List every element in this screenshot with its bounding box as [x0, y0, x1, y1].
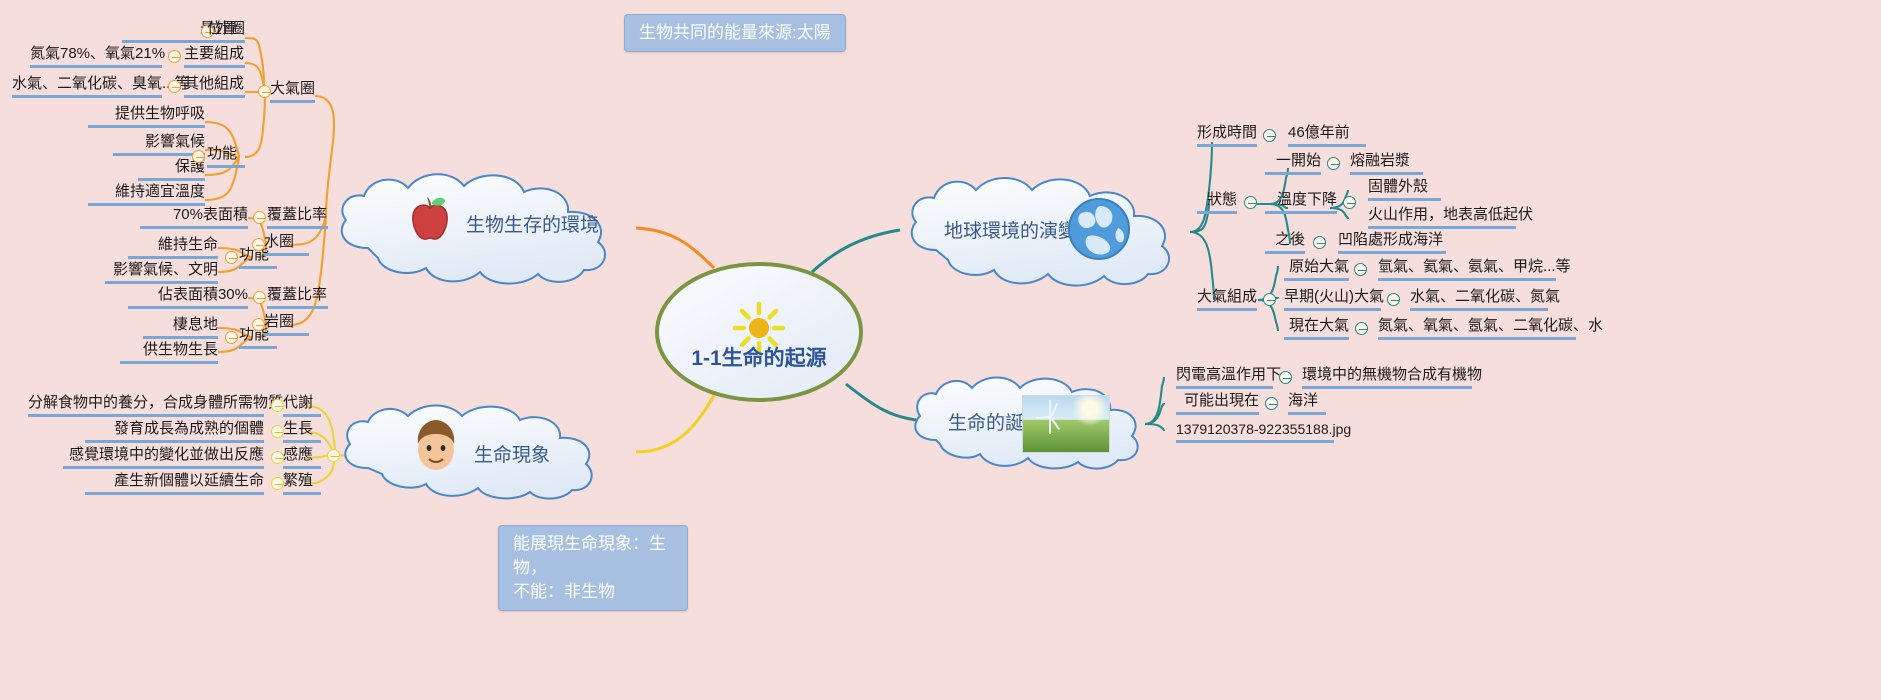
- collapse-badge[interactable]: [1244, 196, 1257, 209]
- collapse-badge[interactable]: [1265, 397, 1278, 410]
- windmill-blade: [1050, 403, 1058, 417]
- node-hydro-cover[interactable]: 覆蓋比率: [267, 206, 328, 229]
- cloud-environment[interactable]: 生物生存的環境: [330, 168, 640, 288]
- node-growth-detail[interactable]: 發育成長為成熟的個體: [85, 420, 264, 443]
- cloud-label-earth-evolution: 地球環境的演變: [944, 216, 1077, 243]
- node-state-cooling[interactable]: 溫度下降: [1265, 191, 1337, 214]
- node-early-atmos[interactable]: 早期(火山)大氣: [1284, 288, 1381, 311]
- collapse-badge[interactable]: [253, 211, 266, 224]
- node-atmosphere-main[interactable]: 主要組成: [184, 45, 245, 68]
- node-metabolism[interactable]: 代謝: [283, 394, 321, 417]
- node-state[interactable]: 狀態: [1197, 191, 1237, 214]
- node-response-detail[interactable]: 感覺環境中的變化並做出反應: [63, 446, 264, 469]
- node-current-atmos[interactable]: 現在大氣: [1284, 317, 1349, 340]
- node-image-filename[interactable]: 1379120378-922355188.jpg: [1176, 420, 1334, 443]
- collapse-badge[interactable]: [1263, 129, 1276, 142]
- node-hydro-cover-detail[interactable]: 70%表面積: [140, 206, 248, 229]
- collapse-badge[interactable]: [192, 150, 205, 163]
- collapse-badge[interactable]: [1263, 293, 1276, 306]
- center-node-title: 1-1生命的起源: [659, 342, 859, 372]
- node-possible-location[interactable]: 可能出現在: [1176, 392, 1259, 415]
- cloud-earth-evolution[interactable]: 地球環境的演變: [900, 172, 1200, 290]
- node-litho-func-growth[interactable]: 供生物生長: [120, 341, 218, 364]
- node-current-atmos-value[interactable]: 氮氣、氧氣、氬氣、二氧化碳、水: [1378, 317, 1576, 340]
- node-state-cooling-volcano[interactable]: 火山作用，地表高低起伏: [1368, 206, 1516, 229]
- collapse-badge[interactable]: [1354, 263, 1367, 276]
- collapse-badge[interactable]: [1355, 322, 1368, 335]
- node-atmosphere-func-climate[interactable]: 影響氣候: [113, 133, 205, 156]
- face-icon: [410, 418, 462, 472]
- node-state-initial[interactable]: 一開始: [1265, 152, 1321, 175]
- node-lightning-condition[interactable]: 閃電高溫作用下: [1176, 366, 1273, 389]
- node-hydrosphere[interactable]: 水圈: [264, 233, 309, 256]
- node-formation-time-value[interactable]: 46億年前: [1288, 124, 1366, 147]
- node-atmosphere-other-detail[interactable]: 水氣、二氧化碳、臭氧...等: [12, 75, 162, 98]
- banner-life-definition[interactable]: 能展現生命現象：生物， 不能：非生物: [498, 525, 688, 611]
- cloud-birth-of-life[interactable]: 生命的誕生: [906, 372, 1168, 476]
- center-node[interactable]: 1-1生命的起源: [655, 262, 863, 402]
- node-atmosphere-main-detail[interactable]: 氮氣78%、氧氣21%: [30, 45, 162, 68]
- node-atmosphere[interactable]: 大氣圈: [270, 80, 315, 103]
- node-lightning-result[interactable]: 環境中的無機物合成有機物: [1302, 366, 1472, 389]
- node-possible-location-value[interactable]: 海洋: [1288, 392, 1326, 415]
- node-lithosphere[interactable]: 岩圈: [264, 313, 309, 336]
- collapse-badge[interactable]: [1387, 293, 1400, 306]
- node-litho-func-habitat[interactable]: 棲息地: [143, 316, 218, 339]
- cloud-life-phenomena[interactable]: 生命現象: [334, 400, 636, 504]
- photo-thumbnail[interactable]: [1022, 395, 1110, 453]
- earth-icon: [1066, 196, 1132, 262]
- mindmap-canvas: 最外圈 位置 氮氣78%、氧氣21% 主要組成 水氣、二氧化碳、臭氧...等 其…: [0, 0, 1881, 700]
- apple-icon: [404, 194, 456, 246]
- node-state-cooling-crust[interactable]: 固體外殼: [1368, 178, 1441, 201]
- windmill-blade: [1050, 417, 1060, 430]
- node-atmosphere-function[interactable]: 功能: [207, 145, 245, 168]
- collapse-badge[interactable]: [1327, 157, 1340, 170]
- collapse-badge[interactable]: [225, 251, 238, 264]
- collapse-badge[interactable]: [168, 80, 181, 93]
- node-atmos-composition[interactable]: 大氣組成: [1197, 288, 1257, 311]
- node-atmosphere-func-temp[interactable]: 維持適宜溫度: [88, 183, 205, 206]
- node-early-atmos-value[interactable]: 水氣、二氧化碳、氮氣: [1410, 288, 1548, 311]
- collapse-badge[interactable]: [1279, 371, 1292, 384]
- collapse-badge[interactable]: [1313, 236, 1326, 249]
- node-response[interactable]: 感應: [283, 446, 321, 469]
- node-metabolism-detail[interactable]: 分解食物中的養分，合成身體所需物質: [28, 394, 264, 417]
- node-atmosphere-other[interactable]: 其他組成: [184, 75, 245, 98]
- node-primordial-atmos[interactable]: 原始大氣: [1284, 258, 1349, 281]
- node-formation-time[interactable]: 形成時間: [1197, 124, 1257, 147]
- node-state-after-value[interactable]: 凹陷處形成海洋: [1338, 231, 1446, 254]
- node-reproduction-detail[interactable]: 產生新個體以延續生命: [85, 472, 264, 495]
- node-reproduction[interactable]: 繁殖: [283, 472, 321, 495]
- node-atmosphere-position[interactable]: 位置: [207, 20, 245, 43]
- node-litho-cover[interactable]: 覆蓋比率: [267, 286, 328, 309]
- node-growth[interactable]: 生長: [283, 420, 321, 443]
- connector-lines: [0, 0, 1881, 700]
- node-atmosphere-func-breath[interactable]: 提供生物呼吸: [88, 105, 205, 128]
- node-state-initial-value[interactable]: 熔融岩漿: [1350, 152, 1423, 175]
- node-hydro-func-life[interactable]: 維持生命: [128, 236, 218, 259]
- collapse-badge[interactable]: [225, 331, 238, 344]
- node-hydro-func-climate[interactable]: 影響氣候、文明: [105, 261, 218, 284]
- cloud-label-life-phenomena: 生命現象: [474, 440, 550, 467]
- collapse-badge[interactable]: [168, 50, 181, 63]
- banner-energy-source[interactable]: 生物共同的能量來源:太陽: [624, 14, 846, 52]
- node-primordial-atmos-value[interactable]: 氫氣、氦氣、氨氣、甲烷...等: [1378, 258, 1556, 281]
- cloud-label-environment: 生物生存的環境: [466, 210, 599, 237]
- collapse-badge[interactable]: [1343, 196, 1356, 209]
- node-litho-cover-detail[interactable]: 佔表面積30%: [128, 286, 248, 309]
- node-state-after[interactable]: 之後: [1265, 231, 1305, 254]
- collapse-badge[interactable]: [253, 291, 266, 304]
